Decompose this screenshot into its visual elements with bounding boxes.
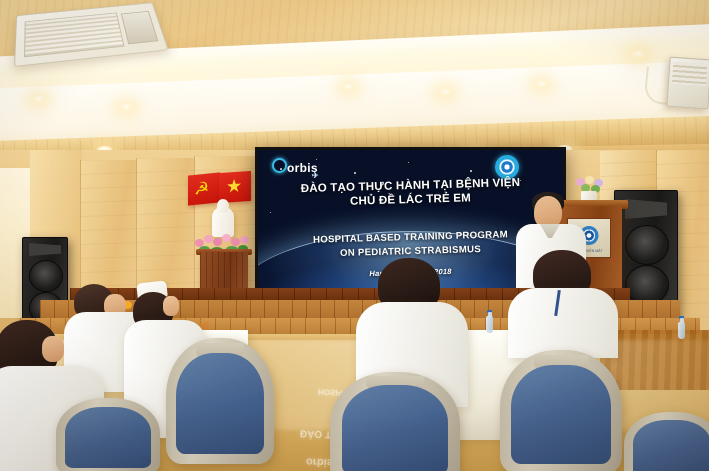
plane-icon: ✈ [312, 171, 319, 180]
wall-air-conditioner-icon [666, 57, 709, 110]
downlight-icon [437, 88, 454, 97]
speaker-horn [29, 243, 61, 256]
attendee-coat [508, 288, 618, 358]
chair-cushion [511, 365, 611, 464]
ac-vent [121, 11, 159, 44]
speaker-horn [625, 199, 667, 219]
chair-mid-left[interactable] [166, 338, 274, 464]
downlight-icon [118, 103, 135, 112]
water-bottle [678, 322, 685, 339]
downlight-icon [533, 80, 550, 89]
attendee-face [42, 336, 64, 362]
speaker-woofer [29, 260, 63, 292]
chair-cushion [342, 385, 449, 471]
downlight-icon [340, 83, 357, 92]
ac-grille [24, 13, 125, 58]
chair-far-right[interactable] [624, 412, 709, 471]
conference-hall-photo: ☭ ★ orbis ✈ [0, 0, 709, 471]
chair-cushion [65, 407, 150, 468]
chair-center[interactable] [330, 372, 460, 471]
floor-reflection-orbis: orbis [306, 456, 333, 469]
water-bottle [486, 316, 493, 333]
orbis-o-icon [272, 158, 287, 173]
hammer-and-sickle-icon: ☭ [194, 179, 212, 199]
hammer-sickle-flag-icon: ☭ [188, 172, 220, 205]
attendee-face [163, 296, 179, 316]
speaker-woofer [625, 225, 669, 265]
chair-right[interactable] [500, 350, 622, 471]
orbis-eye-logo-icon [495, 155, 519, 179]
chair-cushion [176, 353, 265, 454]
speaker-woofer [625, 265, 669, 305]
chair-cushion [633, 420, 709, 471]
downlight-icon [30, 95, 47, 104]
chair-front-left[interactable] [56, 398, 160, 471]
star-icon: ★ [226, 176, 244, 195]
orbis-logo: orbis ✈ [272, 158, 318, 175]
downlight-icon [630, 50, 647, 59]
